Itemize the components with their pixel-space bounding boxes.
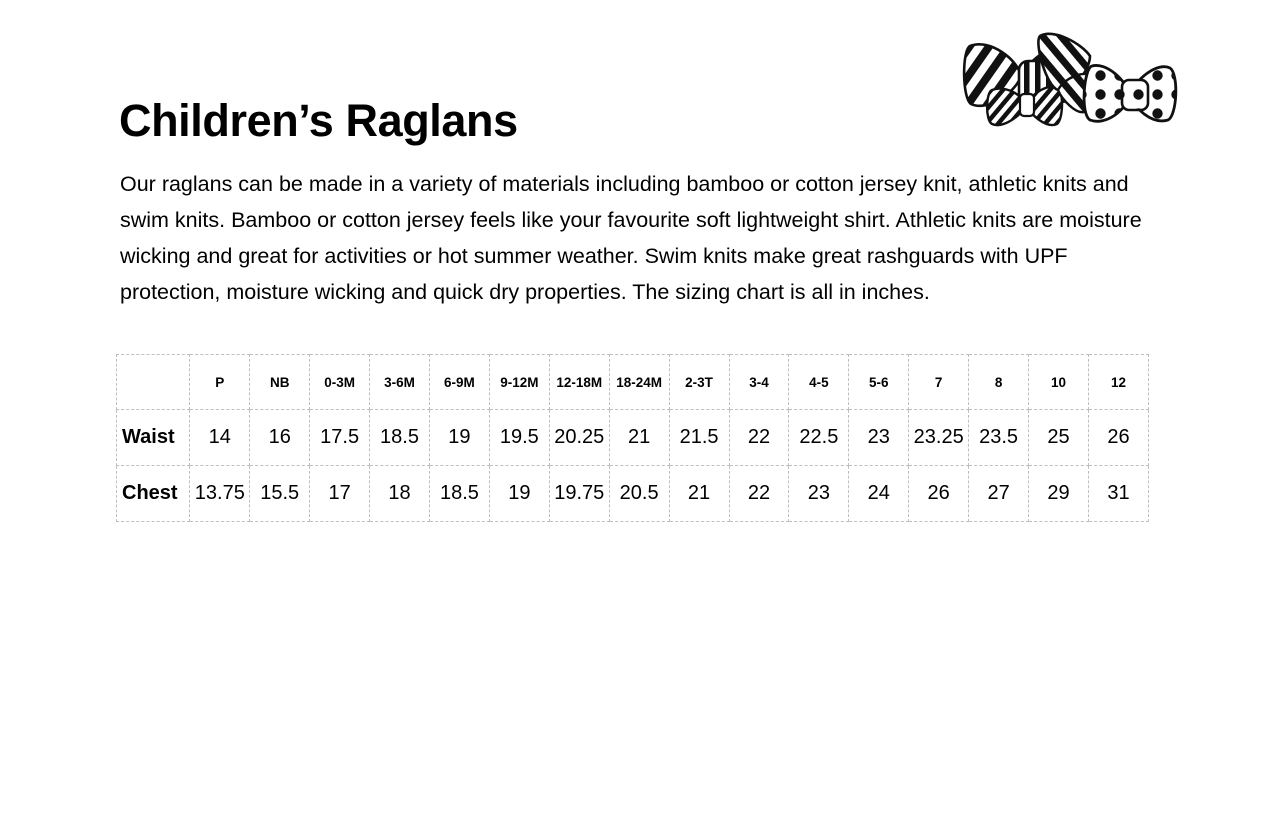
measurement-cell: 22 xyxy=(729,410,789,466)
measurement-cell: 31 xyxy=(1088,466,1148,522)
measurement-cell: 23 xyxy=(849,410,909,466)
measurement-cell: 29 xyxy=(1029,466,1089,522)
size-header-cell: 4-5 xyxy=(789,355,849,410)
measurement-cell: 16 xyxy=(250,410,310,466)
table-body: Waist 14 16 17.5 18.5 19 19.5 20.25 21 2… xyxy=(117,410,1149,522)
measurement-cell: 18.5 xyxy=(429,466,489,522)
page-title: Children’s Raglans xyxy=(119,96,518,146)
sizing-chart-table: P NB 0-3M 3-6M 6-9M 9-12M 12-18M 18-24M … xyxy=(116,354,1149,522)
measurement-cell: 20.25 xyxy=(549,410,609,466)
measurement-cell: 13.75 xyxy=(190,466,250,522)
measurement-cell: 18 xyxy=(370,466,430,522)
measurement-cell: 21.5 xyxy=(669,410,729,466)
size-header-cell: 10 xyxy=(1029,355,1089,410)
row-label-waist: Waist xyxy=(117,410,190,466)
measurement-cell: 26 xyxy=(909,466,969,522)
intro-paragraph: Our raglans can be made in a variety of … xyxy=(120,166,1162,311)
measurement-cell: 25 xyxy=(1029,410,1089,466)
size-header-cell: 7 xyxy=(909,355,969,410)
size-header-cell: NB xyxy=(250,355,310,410)
size-header-cell: 2-3T xyxy=(669,355,729,410)
measurement-cell: 23.25 xyxy=(909,410,969,466)
size-header-cell: 18-24M xyxy=(609,355,669,410)
measurement-cell: 22.5 xyxy=(789,410,849,466)
measurement-cell: 19 xyxy=(489,466,549,522)
size-header-cell: 12-18M xyxy=(549,355,609,410)
size-header-cell: 8 xyxy=(969,355,1029,410)
size-header-cell: P xyxy=(190,355,250,410)
measurement-cell: 21 xyxy=(669,466,729,522)
measurement-cell: 17 xyxy=(310,466,370,522)
size-header-cell: 3-4 xyxy=(729,355,789,410)
size-header-cell: 12 xyxy=(1088,355,1148,410)
measurement-cell: 23 xyxy=(789,466,849,522)
bow-ties-logo xyxy=(958,28,1190,134)
measurement-cell: 21 xyxy=(609,410,669,466)
measurement-cell: 22 xyxy=(729,466,789,522)
measurement-cell: 19 xyxy=(429,410,489,466)
size-header-cell: 9-12M xyxy=(489,355,549,410)
measurement-cell: 24 xyxy=(849,466,909,522)
bow-tie-polka-dot xyxy=(1084,65,1176,121)
size-header-cell: 5-6 xyxy=(849,355,909,410)
sizing-chart: P NB 0-3M 3-6M 6-9M 9-12M 12-18M 18-24M … xyxy=(116,354,1149,522)
size-header-cell: 6-9M xyxy=(429,355,489,410)
measurement-cell: 26 xyxy=(1088,410,1148,466)
row-label-chest: Chest xyxy=(117,466,190,522)
measurement-cell: 15.5 xyxy=(250,466,310,522)
measurement-cell: 18.5 xyxy=(370,410,430,466)
table-header-row: P NB 0-3M 3-6M 6-9M 9-12M 12-18M 18-24M … xyxy=(117,355,1149,410)
measurement-cell: 23.5 xyxy=(969,410,1029,466)
measurement-cell: 17.5 xyxy=(310,410,370,466)
measurement-cell: 20.5 xyxy=(609,466,669,522)
size-header-cell: 3-6M xyxy=(370,355,430,410)
table-row-waist: Waist 14 16 17.5 18.5 19 19.5 20.25 21 2… xyxy=(117,410,1149,466)
measurement-cell: 27 xyxy=(969,466,1029,522)
table-corner-cell xyxy=(117,355,190,410)
size-header-cell: 0-3M xyxy=(310,355,370,410)
table-head: P NB 0-3M 3-6M 6-9M 9-12M 12-18M 18-24M … xyxy=(117,355,1149,410)
page: Children’s Raglans Our raglans can be ma… xyxy=(0,0,1275,825)
table-row-chest: Chest 13.75 15.5 17 18 18.5 19 19.75 20.… xyxy=(117,466,1149,522)
measurement-cell: 14 xyxy=(190,410,250,466)
measurement-cell: 19.75 xyxy=(549,466,609,522)
measurement-cell: 19.5 xyxy=(489,410,549,466)
